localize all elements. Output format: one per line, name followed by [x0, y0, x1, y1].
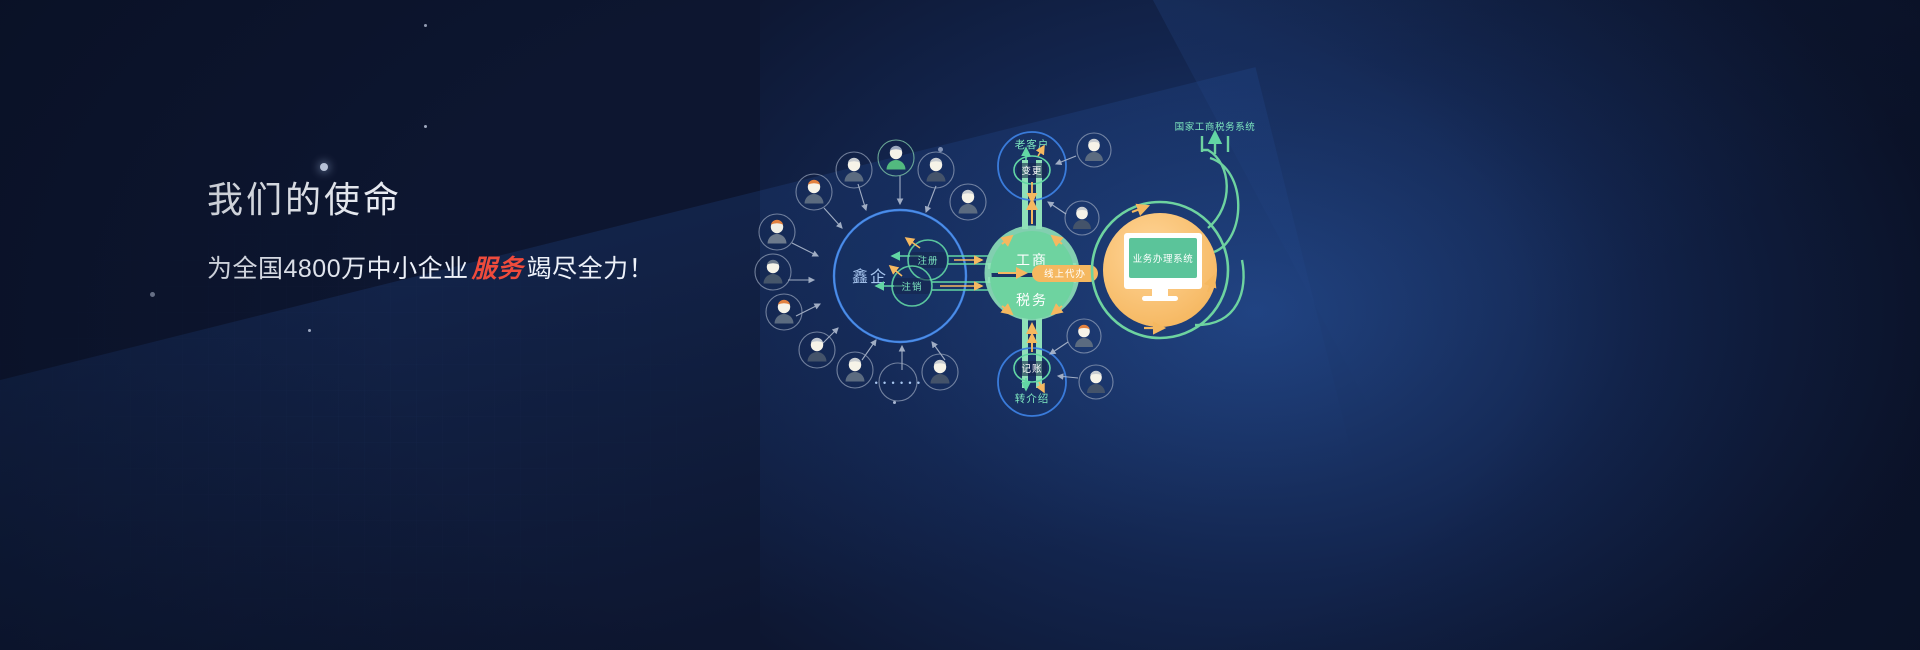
customer-avatar — [799, 332, 835, 368]
decor-dot — [308, 329, 311, 332]
customer-avatar — [950, 184, 986, 220]
customer-avatar — [755, 254, 791, 290]
connector-label-register: 注册 — [917, 255, 938, 267]
page-title: 我们的使命 — [207, 178, 654, 221]
hero-subtitle: 为全国4800万中小企业服务竭尽全力！ — [207, 249, 654, 285]
subtitle-part-after: 竭尽全力！ — [527, 255, 655, 283]
connector-label-bookkeeping: 记账 — [1021, 363, 1042, 375]
customer-avatar — [759, 214, 795, 250]
customer-avatar — [918, 152, 954, 188]
business-system-circle[interactable]: 业务办理系统 — [1092, 132, 1244, 338]
customer-ellipsis-node: • • • • • • — [875, 363, 922, 401]
connector-label-change: 变更 — [1021, 165, 1042, 177]
customer-ellipsis-label: • • • • • • — [875, 378, 922, 388]
customer-avatar — [878, 140, 914, 176]
client-hub-label: 鑫企 — [852, 267, 888, 286]
decor-dot — [424, 125, 427, 128]
customer-avatar — [836, 152, 872, 188]
subtitle-highlight: 服务 — [469, 255, 527, 283]
subtitle-part-before: 为全国4800万中小企业 — [207, 255, 469, 283]
customer-avatar — [922, 354, 958, 390]
hero-copy: 我们的使命 为全国4800万中小企业服务竭尽全力！ — [207, 178, 654, 285]
decor-dot — [424, 24, 427, 27]
connector-label-deregister: 注销 — [901, 281, 922, 293]
node-existing-customer[interactable]: 老客户 变更 — [998, 132, 1111, 235]
decor-dot — [320, 163, 328, 171]
client-hub-circle[interactable]: 鑫企 — [834, 210, 966, 342]
customer-avatar — [1067, 319, 1101, 353]
customer-avatar — [1077, 133, 1111, 167]
decor-dot — [150, 292, 155, 297]
node-referral[interactable]: 记账 转介绍 — [998, 319, 1113, 416]
node-label-referral: 转介绍 — [1015, 392, 1050, 405]
customer-avatar — [837, 352, 873, 388]
node-label-existing-customer: 老客户 — [1015, 138, 1050, 151]
customer-avatar — [796, 174, 832, 210]
core-hub-label-tax: 税务 — [1016, 292, 1048, 308]
customer-avatar — [766, 294, 802, 330]
service-flow-diagram: • • • • • • 鑫企 注册 — [740, 120, 1280, 420]
customer-avatar — [1065, 201, 1099, 235]
hero-banner: 我们的使命 为全国4800万中小企业服务竭尽全力！ — [0, 0, 1920, 650]
government-system-label: 国家工商税务系统 — [1175, 121, 1256, 133]
business-system-label: 业务办理系统 — [1133, 253, 1194, 265]
online-agent-badge-label: 线上代办 — [1044, 268, 1086, 280]
customer-avatar — [1079, 365, 1113, 399]
